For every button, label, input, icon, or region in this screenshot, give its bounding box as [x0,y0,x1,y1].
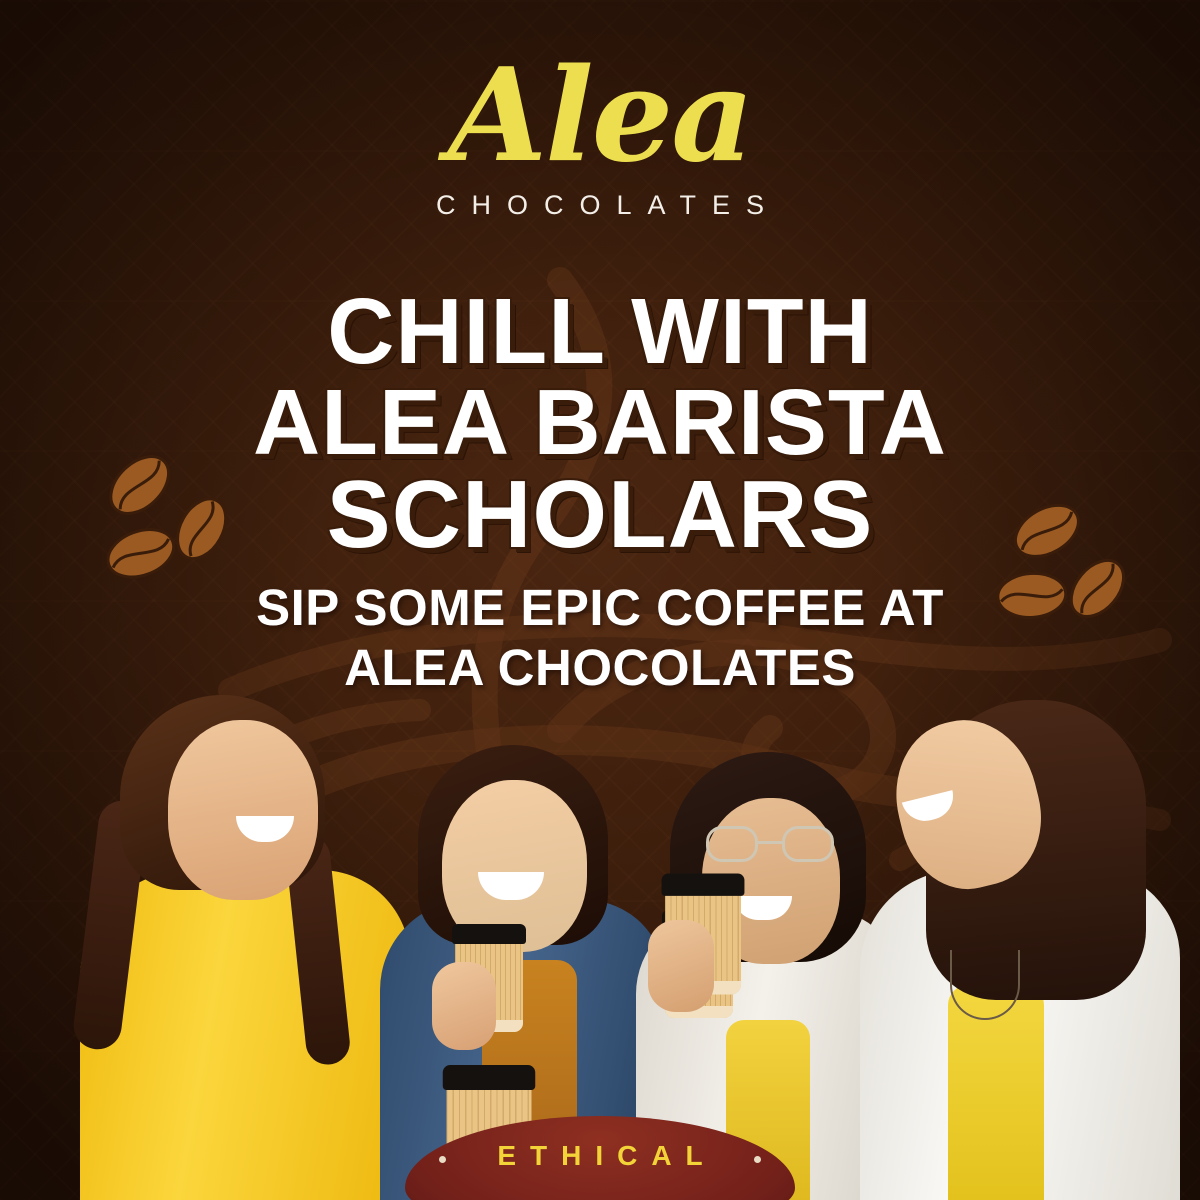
necklace [950,950,1020,1020]
glasses-hand [648,920,714,1012]
logo-script-wordmark: Alea [0,52,1200,180]
headline-line-3: SCHOLARS [0,468,1200,562]
headline-line-2: ALEA BARISTA [0,377,1200,468]
cup-3-lid [662,874,745,896]
group-photo: ETHICAL [0,670,1200,1200]
headline-line-1: CHILL WITH [0,286,1200,377]
person-woman-yellow-hoodie [60,680,420,1200]
table-sign-label: ETHICAL [405,1140,795,1172]
cup-1-lid [452,924,526,944]
yellow-hoodie-face [168,720,318,900]
logo-subtitle: CHOCOLATES [0,190,1200,221]
poster-canvas: Alea CHOCOLATES CHILL WITH ALEA BARISTA … [0,0,1200,1200]
denim-jacket-hand-1 [432,962,496,1050]
brand-logo: Alea CHOCOLATES [0,52,1200,221]
eyeglasses-icon [706,826,834,862]
headline: CHILL WITH ALEA BARISTA SCHOLARS [0,286,1200,562]
cup-fg-lid [443,1065,536,1090]
subheadline-line-1: SIP SOME EPIC COFFEE AT [0,578,1200,638]
person-woman-white-top [830,680,1190,1200]
